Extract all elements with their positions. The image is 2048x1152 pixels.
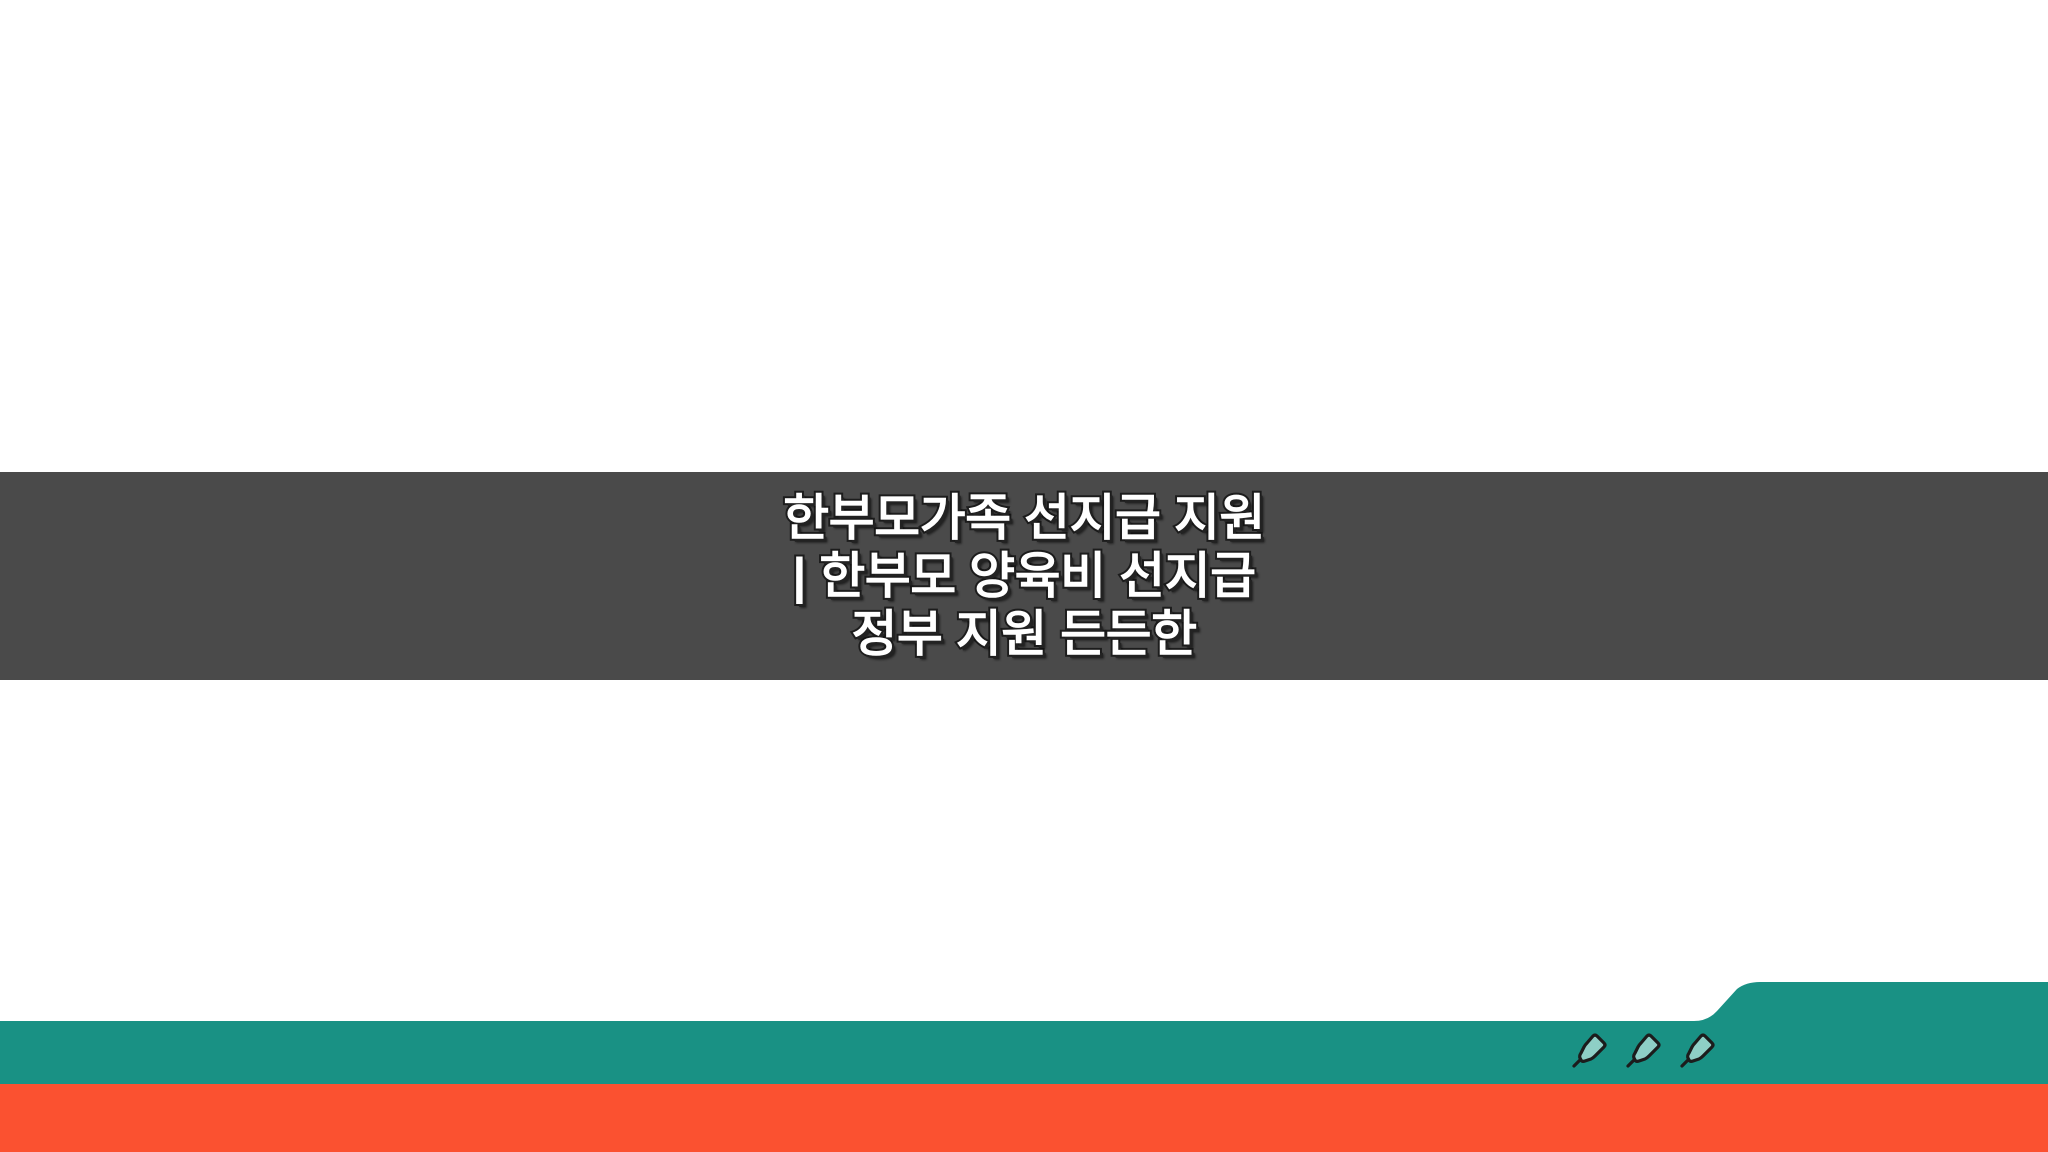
pushpin-icon [1566, 1028, 1614, 1076]
page-title-line-2: | 한부모 양육비 선지급 [792, 547, 1255, 605]
page-title-line-1: 한부모가족 선지급 지원 [783, 489, 1265, 547]
pushpin-icon [1674, 1028, 1722, 1076]
pushpin-icon [1620, 1028, 1668, 1076]
orange-band [0, 1084, 2048, 1152]
page-root: 한부모가족 선지급 지원 | 한부모 양육비 선지급 정부 지원 든든한 [0, 0, 2048, 1152]
footer-decoration [0, 960, 2048, 1152]
pushpin-icon-row [1566, 1028, 1722, 1076]
title-banner: 한부모가족 선지급 지원 | 한부모 양육비 선지급 정부 지원 든든한 [0, 472, 2048, 680]
top-whitespace [0, 0, 2048, 472]
page-title-line-3: 정부 지원 든든한 [851, 605, 1196, 663]
teal-band [0, 960, 2048, 1084]
